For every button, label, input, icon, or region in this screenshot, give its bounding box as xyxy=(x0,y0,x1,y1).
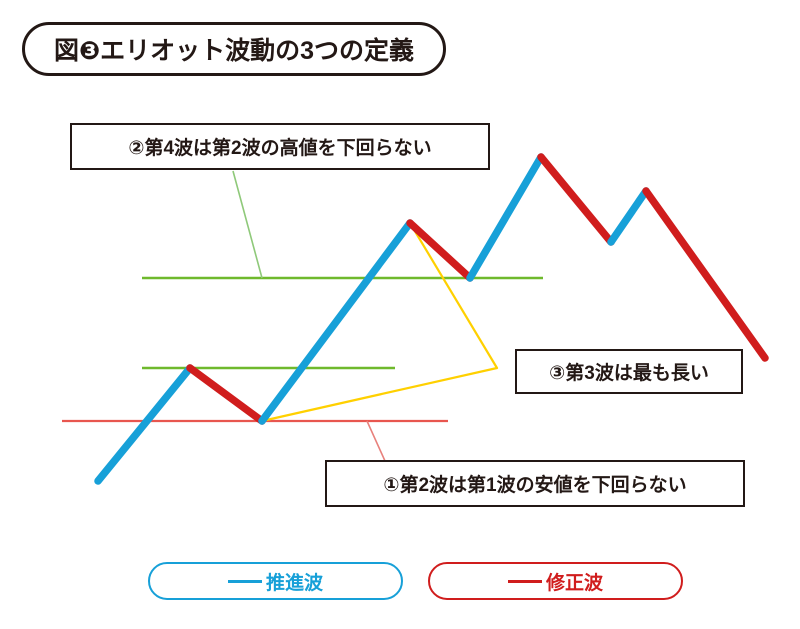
leader-rule1-line xyxy=(367,421,385,461)
wave-segment-b xyxy=(611,191,646,242)
wave-path xyxy=(98,157,765,481)
legend-line-swatch-icon xyxy=(508,580,542,583)
wave-segment-1 xyxy=(98,368,190,481)
legend-corrective-inner: 修正波 xyxy=(508,568,603,595)
legend-line-swatch-icon xyxy=(228,580,262,583)
legend-item-impulse: 推進波 xyxy=(148,562,403,600)
figure-title-pill: 図❸エリオット波動の3つの定義 xyxy=(22,22,446,76)
wave-segment-3 xyxy=(262,223,410,421)
legend-impulse-inner: 推進波 xyxy=(228,568,323,595)
wave-segment-2 xyxy=(190,368,262,421)
annotation-box-rule3: ③第3波は最も長い xyxy=(515,349,743,394)
annotation-box-rule2: ②第4波は第2波の高値を下回らない xyxy=(70,123,490,170)
wave-3-length-measure xyxy=(262,223,497,421)
wave-segment-a xyxy=(541,157,611,242)
wave-segment-c xyxy=(646,191,765,358)
page-title: 図❸エリオット波動の3つの定義 xyxy=(54,31,414,67)
annotation-rule2-label: ②第4波は第2波の高値を下回らない xyxy=(128,133,431,160)
legend-impulse-label: 推進波 xyxy=(266,568,323,595)
annotation-rule3-label: ③第3波は最も長い xyxy=(549,358,709,385)
reference-lines xyxy=(62,278,543,421)
leader-rule2-line xyxy=(233,171,262,278)
elliott-wave-chart xyxy=(0,0,800,629)
annotation-rule1-label: ①第2波は第1波の安値を下回らない xyxy=(383,470,686,497)
wave-segment-4 xyxy=(410,223,470,278)
legend-corrective-label: 修正波 xyxy=(546,568,603,595)
annotation-box-rule1: ①第2波は第1波の安値を下回らない xyxy=(325,460,745,507)
wave-segment-5 xyxy=(470,157,541,278)
legend-item-corrective: 修正波 xyxy=(428,562,683,600)
figure-root: 図❸エリオット波動の3つの定義 ②第4波は第2波の高値を下回らない ③第3波は最… xyxy=(0,0,800,629)
